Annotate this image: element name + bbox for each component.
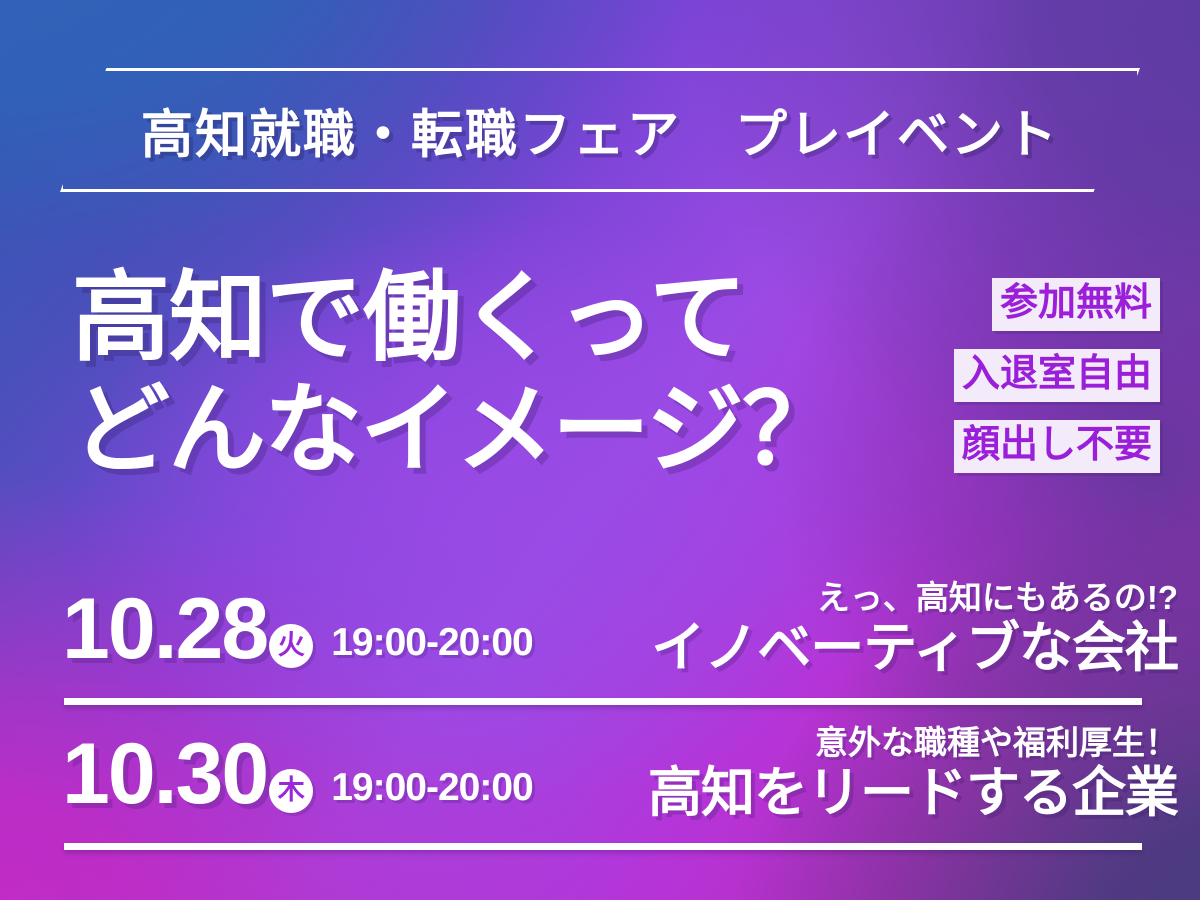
event-subtitle: えっ、高知にもあるの!? xyxy=(545,580,1178,616)
badge-free-join-leave: 入退室自由 xyxy=(954,349,1160,402)
event-time: 19:00-20:00 xyxy=(331,766,532,810)
event-subtitle: 意外な職種や福利厚生！ xyxy=(545,725,1178,761)
event-topic: えっ、高知にもあるの!? イノベーティブな会社 xyxy=(533,580,1178,679)
headline-line-1: 高知で働くって xyxy=(72,262,912,374)
event-time: 19:00-20:00 xyxy=(331,621,532,665)
event-title: 高知をリードする企業 xyxy=(545,763,1178,823)
event-topic: 意外な職種や福利厚生！ 高知をリードする企業 xyxy=(533,725,1178,824)
badge-camera-optional: 顔出し不要 xyxy=(954,420,1160,473)
event-series-banner: 高知就職・転職フェア プレイベント xyxy=(60,68,1140,192)
banner-label: 高知就職・転職フェア プレイベント xyxy=(60,93,1140,168)
event-datetime: 10.30 木 19:00-20:00 xyxy=(62,731,533,817)
event-divider xyxy=(64,698,1142,705)
event-day-of-week-badge: 火 xyxy=(269,624,313,668)
event-datetime: 10.28 火 19:00-20:00 xyxy=(62,586,533,672)
page-title: 高知で働くって どんなイメージ？ xyxy=(72,262,912,485)
headline-line-2: どんなイメージ？ xyxy=(72,374,912,486)
event-date: 10.30 xyxy=(62,731,267,817)
badge-free-entry: 参加無料 xyxy=(992,278,1160,331)
event-day-of-week-badge: 木 xyxy=(269,769,313,813)
event-divider xyxy=(64,843,1142,850)
event-poster: 高知就職・転職フェア プレイベント 高知で働くって どんなイメージ？ 参加無料 … xyxy=(0,0,1200,900)
feature-badge-list: 参加無料 入退室自由 顔出し不要 xyxy=(954,278,1160,473)
event-schedule-list: 10.28 火 19:00-20:00 えっ、高知にもあるの!? イノベーティブ… xyxy=(0,560,1200,850)
event-title: イノベーティブな会社 xyxy=(545,618,1178,678)
event-date: 10.28 xyxy=(62,586,267,672)
event-row: 10.30 木 19:00-20:00 意外な職種や福利厚生！ 高知をリードする… xyxy=(0,705,1200,843)
event-row: 10.28 火 19:00-20:00 えっ、高知にもあるの!? イノベーティブ… xyxy=(0,560,1200,698)
